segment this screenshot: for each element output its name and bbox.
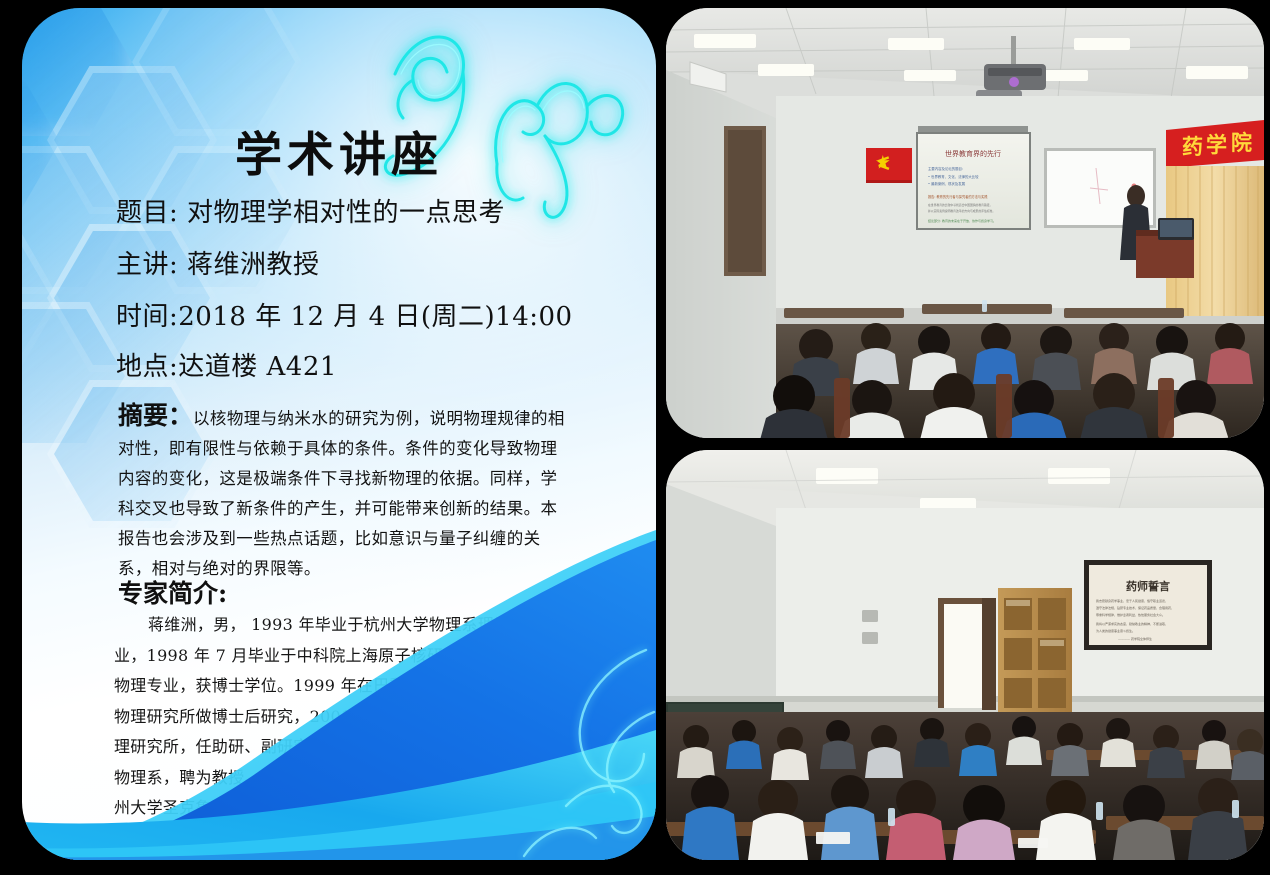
svg-text:药: 药 xyxy=(1182,135,1203,159)
lecture-poster: 学术讲座 题目: 对物理学相对性的一点思考 主讲: 蒋维洲教授 时间:2018 … xyxy=(22,8,656,860)
event-photo-lecture-hall: 世界教育界的先行 主要内容及论坛的题目: • 世界教育、文化、法律的大比较 • … xyxy=(666,8,1264,438)
field-speaker: 主讲: 蒋维洲教授 xyxy=(116,244,320,281)
classroom-scene: 药师誓言 我志愿献身药学事业，忠于人民健康，恪守职业道德， 遵守法律法规，钻研专… xyxy=(666,450,1264,860)
svg-text:尊重科学规律，维护患者利益，热忱服务社会大众。: 尊重科学规律，维护患者利益，热忱服务社会大众。 xyxy=(1096,612,1165,617)
abstract-body: 以核物理与纳米水的研究为例，说明物理规律的相对性，即有限性与依赖于具体的条件。条… xyxy=(118,409,565,578)
svg-text:———— 药学院全体师生: ———— 药学院全体师生 xyxy=(1118,636,1152,641)
svg-text:我志愿献身药学事业，忠于人民健康，恪守职业道德，: 我志愿献身药学事业，忠于人民健康，恪守职业道德， xyxy=(1096,598,1168,603)
svg-text:• 世界教育、文化、法律的大比较: • 世界教育、文化、法律的大比较 xyxy=(928,174,979,179)
svg-text:为人类的健康事业奋斗终生。: 为人类的健康事业奋斗终生。 xyxy=(1096,628,1135,633)
svg-text:院: 院 xyxy=(1231,131,1252,155)
field-topic: 题目: 对物理学相对性的一点思考 xyxy=(116,192,505,229)
svg-text:• 最新案例、现状及发展: • 最新案例、现状及发展 xyxy=(928,181,966,186)
svg-text:世界教育界的先行: 世界教育界的先行 xyxy=(945,149,1001,158)
svg-text:在世界教育的比较中寻找适合中国国情的教育路径，: 在世界教育的比较中寻找适合中国国情的教育路径， xyxy=(928,203,992,207)
abstract-heading: 摘要： xyxy=(118,401,193,430)
svg-text:我将以严谨求实的态度，勤勉敬业的精神，不断进取，: 我将以严谨求实的态度，勤勉敬业的精神，不断进取， xyxy=(1096,621,1168,626)
svg-text:药师誓言: 药师誓言 xyxy=(1126,579,1170,593)
bio-heading: 专家简介: xyxy=(118,574,227,610)
svg-text:结论部分: 教育的未来在于开放、协作与终身学习。: 结论部分: 教育的未来在于开放、协作与终身学习。 xyxy=(928,218,996,223)
abstract-section: 摘要：以核物理与纳米水的研究为例，说明物理规律的相对性，即有限性与依赖于具体的条… xyxy=(118,396,568,584)
svg-text:报告: 教育的先行者与探究者的方法与实践: 报告: 教育的先行者与探究者的方法与实践 xyxy=(928,194,988,199)
field-datetime: 时间:2018 年 12 月 4 日(周二)14:00 xyxy=(116,296,573,333)
svg-text:并以实际案例说明教育改革的方向与成果的评估标准。: 并以实际案例说明教育改革的方向与成果的评估标准。 xyxy=(928,209,995,213)
svg-text:学: 学 xyxy=(1206,133,1227,157)
field-location: 地点:达道楼 A421 xyxy=(116,346,337,383)
lecture-hall-scene: 世界教育界的先行 主要内容及论坛的题目: • 世界教育、文化、法律的大比较 • … xyxy=(666,8,1264,438)
svg-text:遵守法律法规，钻研专业技术，保证药品质量，合理用药，: 遵守法律法规，钻研专业技术，保证药品质量，合理用药， xyxy=(1096,605,1174,610)
poster-canvas: 学术讲座 题目: 对物理学相对性的一点思考 主讲: 蒋维洲教授 时间:2018 … xyxy=(0,0,1270,875)
page-title: 学术讲座 xyxy=(22,116,656,185)
bio-body: 蒋维洲，男， 1993 年毕业于杭州大学物理系理论物理专业，1998 年 7 月… xyxy=(114,610,576,854)
event-photo-classroom-audience: 药师誓言 我志愿献身药学事业，忠于人民健康，恪守职业道德， 遵守法律法规，钻研专… xyxy=(666,450,1264,860)
svg-text:主要内容及论坛的题目:: 主要内容及论坛的题目: xyxy=(928,166,963,171)
